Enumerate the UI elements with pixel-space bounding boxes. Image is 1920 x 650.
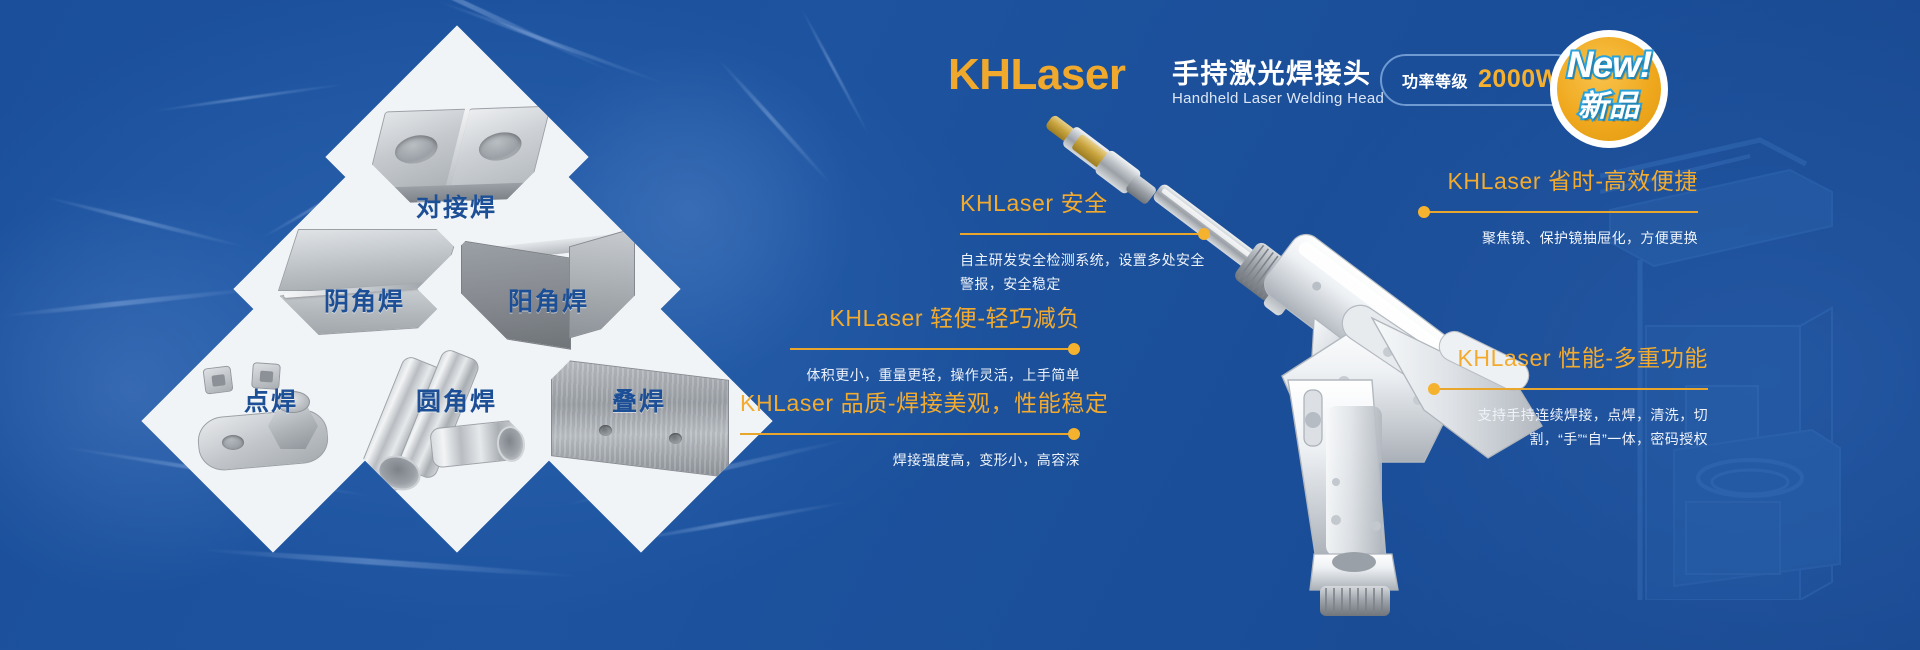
feature-callout-safety: KHLaser 安全 自主研发安全检测系统，设置多处安全警报，安全稳定 — [960, 190, 1210, 297]
power-rating-label: 功率等级 — [1402, 68, 1468, 92]
weld-type-label-inside-corner: 阴角焊 — [324, 282, 405, 318]
feature-desc-safety: 自主研发安全检测系统，设置多处安全警报，安全稳定 — [960, 248, 1210, 297]
new-badge-text-en: New! — [1550, 46, 1668, 83]
feature-callout-lightweight: KHLaser 轻便-轻巧减负 体积更小，重量更轻，操作灵活，上手简单 — [790, 305, 1080, 387]
weld-type-label-lap: 叠焊 — [612, 382, 666, 418]
feature-connector-line — [740, 426, 1080, 442]
feature-title-time-saving: KHLaser 省时-高效便捷 — [1418, 168, 1698, 196]
weld-type-label-spot: 点焊 — [244, 382, 298, 418]
feature-title-safety: KHLaser 安全 — [960, 190, 1210, 218]
feature-callout-performance: KHLaser 性能-多重功能 支持手持连续焊接，点焊，清洗，切割，“手”“自”… — [1428, 345, 1708, 452]
feature-connector-line — [1428, 381, 1708, 397]
feature-connector-dot — [1198, 228, 1210, 240]
weld-type-label-butt: 对接焊 — [416, 188, 497, 224]
feature-connector-dot — [1428, 383, 1440, 395]
feature-desc-time-saving: 聚焦镜、保护镜抽屉化，方便更换 — [1418, 226, 1698, 251]
feature-connector-line — [960, 226, 1210, 242]
product-title-cn: 手持激光焊接头 — [1172, 52, 1372, 91]
weld-type-label-outside-corner: 阳角焊 — [508, 282, 589, 318]
feature-title-quality: KHLaser 品质-焊接美观，性能稳定 — [740, 390, 1080, 418]
feature-callout-time-saving: KHLaser 省时-高效便捷 聚焦镜、保护镜抽屉化，方便更换 — [1418, 168, 1698, 250]
feature-callout-quality: KHLaser 品质-焊接美观，性能稳定 焊接强度高，变形小，高容深 — [740, 390, 1080, 472]
feature-connector-dot — [1068, 343, 1080, 355]
feature-connector-line — [1418, 204, 1698, 220]
feature-connector-dot — [1068, 428, 1080, 440]
feature-desc-performance: 支持手持连续焊接，点焊，清洗，切割，“手”“自”一体，密码授权 — [1428, 403, 1708, 452]
feature-title-performance: KHLaser 性能-多重功能 — [1428, 345, 1708, 373]
feature-desc-lightweight: 体积更小，重量更轻，操作灵活，上手简单 — [790, 363, 1080, 388]
feature-desc-quality: 焊接强度高，变形小，高容深 — [740, 448, 1080, 473]
product-banner: 对接焊 阴角焊 阳角焊 — [0, 0, 1920, 650]
feature-connector-line — [790, 341, 1080, 357]
weld-type-diamond-grid: 对接焊 阴角焊 阳角焊 — [0, 0, 800, 650]
feature-connector-dot — [1418, 206, 1430, 218]
feature-title-lightweight: KHLaser 轻便-轻巧减负 — [790, 305, 1080, 333]
weld-type-label-fillet: 圆角焊 — [416, 382, 497, 418]
